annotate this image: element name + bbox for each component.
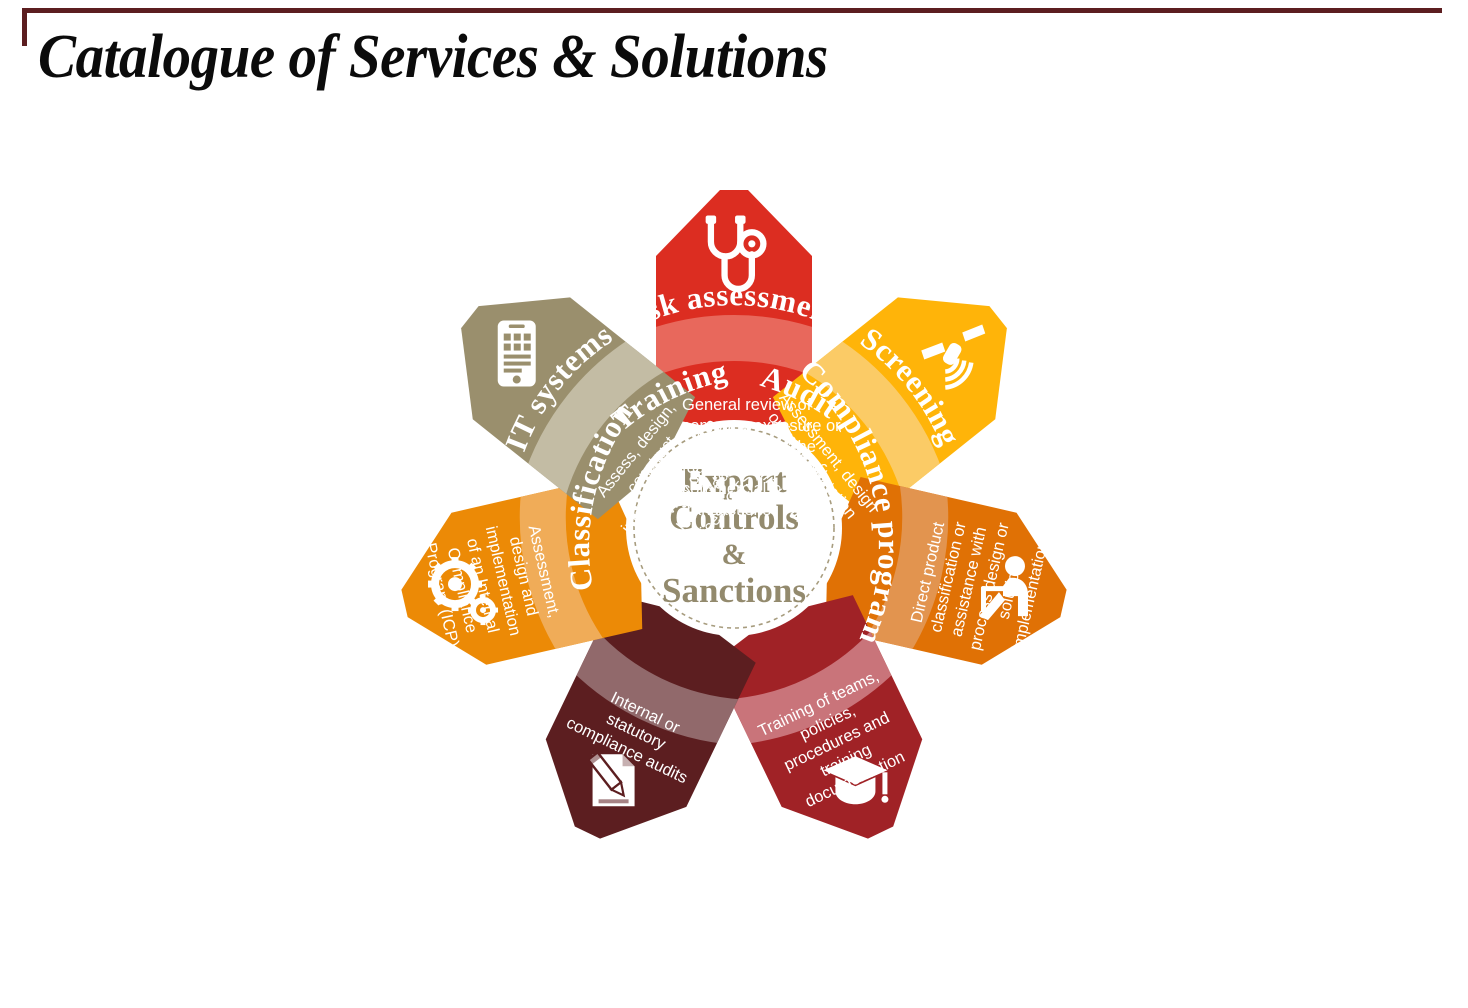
hub-line-3: &: [722, 538, 747, 571]
services-wheel-diagram: Export Controls & Sanctions Risk assessm…: [0, 110, 1468, 1008]
top-border-rule: [22, 8, 1442, 13]
slide-canvas: Catalogue of Services & Solutions: [0, 0, 1468, 1008]
top-left-corner-accent: [22, 8, 27, 46]
hub-line-4: Sanctions: [662, 571, 806, 610]
tablet-device-icon: [498, 321, 536, 387]
page-title: Catalogue of Services & Solutions: [38, 22, 828, 93]
